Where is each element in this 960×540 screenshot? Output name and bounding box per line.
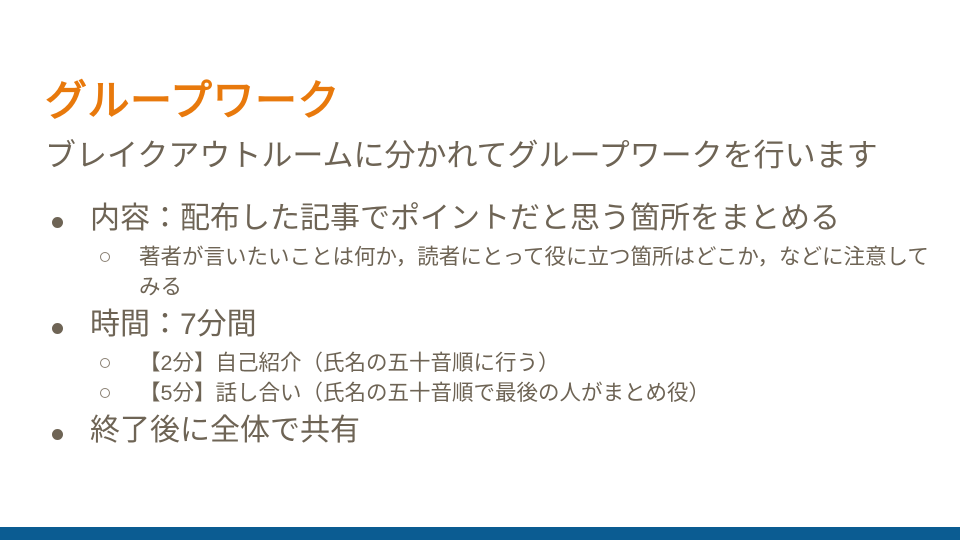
filled-circle-bullet-icon: [52, 196, 63, 242]
filled-circle-bullet-icon: [52, 302, 63, 348]
footer-accent-bar: [0, 527, 960, 540]
list-item: 終了後に全体で共有: [45, 408, 935, 454]
list-item: 【2分】自己紹介（氏名の五十音順に行う）: [45, 348, 935, 378]
filled-circle-bullet-icon: [52, 408, 63, 454]
bullet-list: 内容：配布した記事でポイントだと思う箇所をまとめる 著者が言いたいことは何か，読…: [45, 196, 935, 454]
list-item-label: 終了後に全体で共有: [90, 414, 360, 447]
list-item: 内容：配布した記事でポイントだと思う箇所をまとめる: [45, 196, 935, 242]
slide-canvas: グループワーク ブレイクアウトルームに分かれてグループワークを行います 内容：配…: [0, 0, 960, 540]
list-item-label: 【5分】話し合い（氏名の五十音順で最後の人がまとめ役）: [139, 378, 935, 408]
list-item: 時間：7分間: [45, 302, 935, 348]
hollow-circle-bullet-icon: [100, 348, 111, 378]
list-item: 【5分】話し合い（氏名の五十音順で最後の人がまとめ役）: [45, 378, 935, 408]
list-item-label: 著者が言いたいことは何か，読者にとって役に立つ箇所はどこか，などに注意してみる: [139, 242, 935, 302]
slide-subtitle: ブレイクアウトルームに分かれてグループワークを行います: [45, 136, 935, 176]
hollow-circle-bullet-icon: [100, 242, 111, 272]
page-title: グループワーク: [45, 76, 925, 126]
list-item: 著者が言いたいことは何か，読者にとって役に立つ箇所はどこか，などに注意してみる: [45, 242, 935, 302]
list-item-label: 内容：配布した記事でポイントだと思う箇所をまとめる: [90, 202, 840, 235]
list-item-label: 【2分】自己紹介（氏名の五十音順に行う）: [139, 348, 935, 378]
hollow-circle-bullet-icon: [100, 378, 111, 408]
list-item-label: 時間：7分間: [90, 308, 257, 341]
